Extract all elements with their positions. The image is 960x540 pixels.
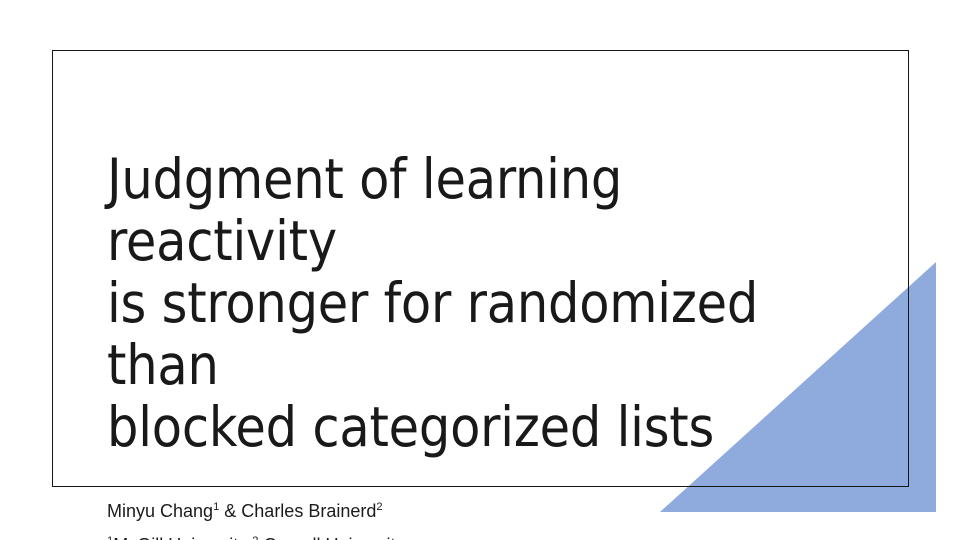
authors-line: Minyu Chang1 & Charles Brainerd2 — [107, 494, 837, 528]
slide-text-block: Judgment of learning reactivity is stron… — [107, 148, 837, 540]
author-two-affiliation-marker: 2 — [376, 501, 382, 513]
page-title: Judgment of learning reactivity is stron… — [107, 148, 837, 458]
affiliation-one-name: McGill University — [113, 535, 247, 540]
author-one-name: Minyu Chang — [107, 501, 213, 521]
author-two-name: Charles Brainerd — [241, 501, 376, 521]
affiliations-line: 1McGill University 2 Cornell University — [107, 528, 837, 540]
subtitle-block: Minyu Chang1 & Charles Brainerd2 1McGill… — [107, 458, 837, 540]
affiliation-two-name: Cornell University — [258, 535, 404, 540]
title-slide: Judgment of learning reactivity is stron… — [0, 0, 960, 540]
authors-separator: & — [219, 501, 241, 521]
